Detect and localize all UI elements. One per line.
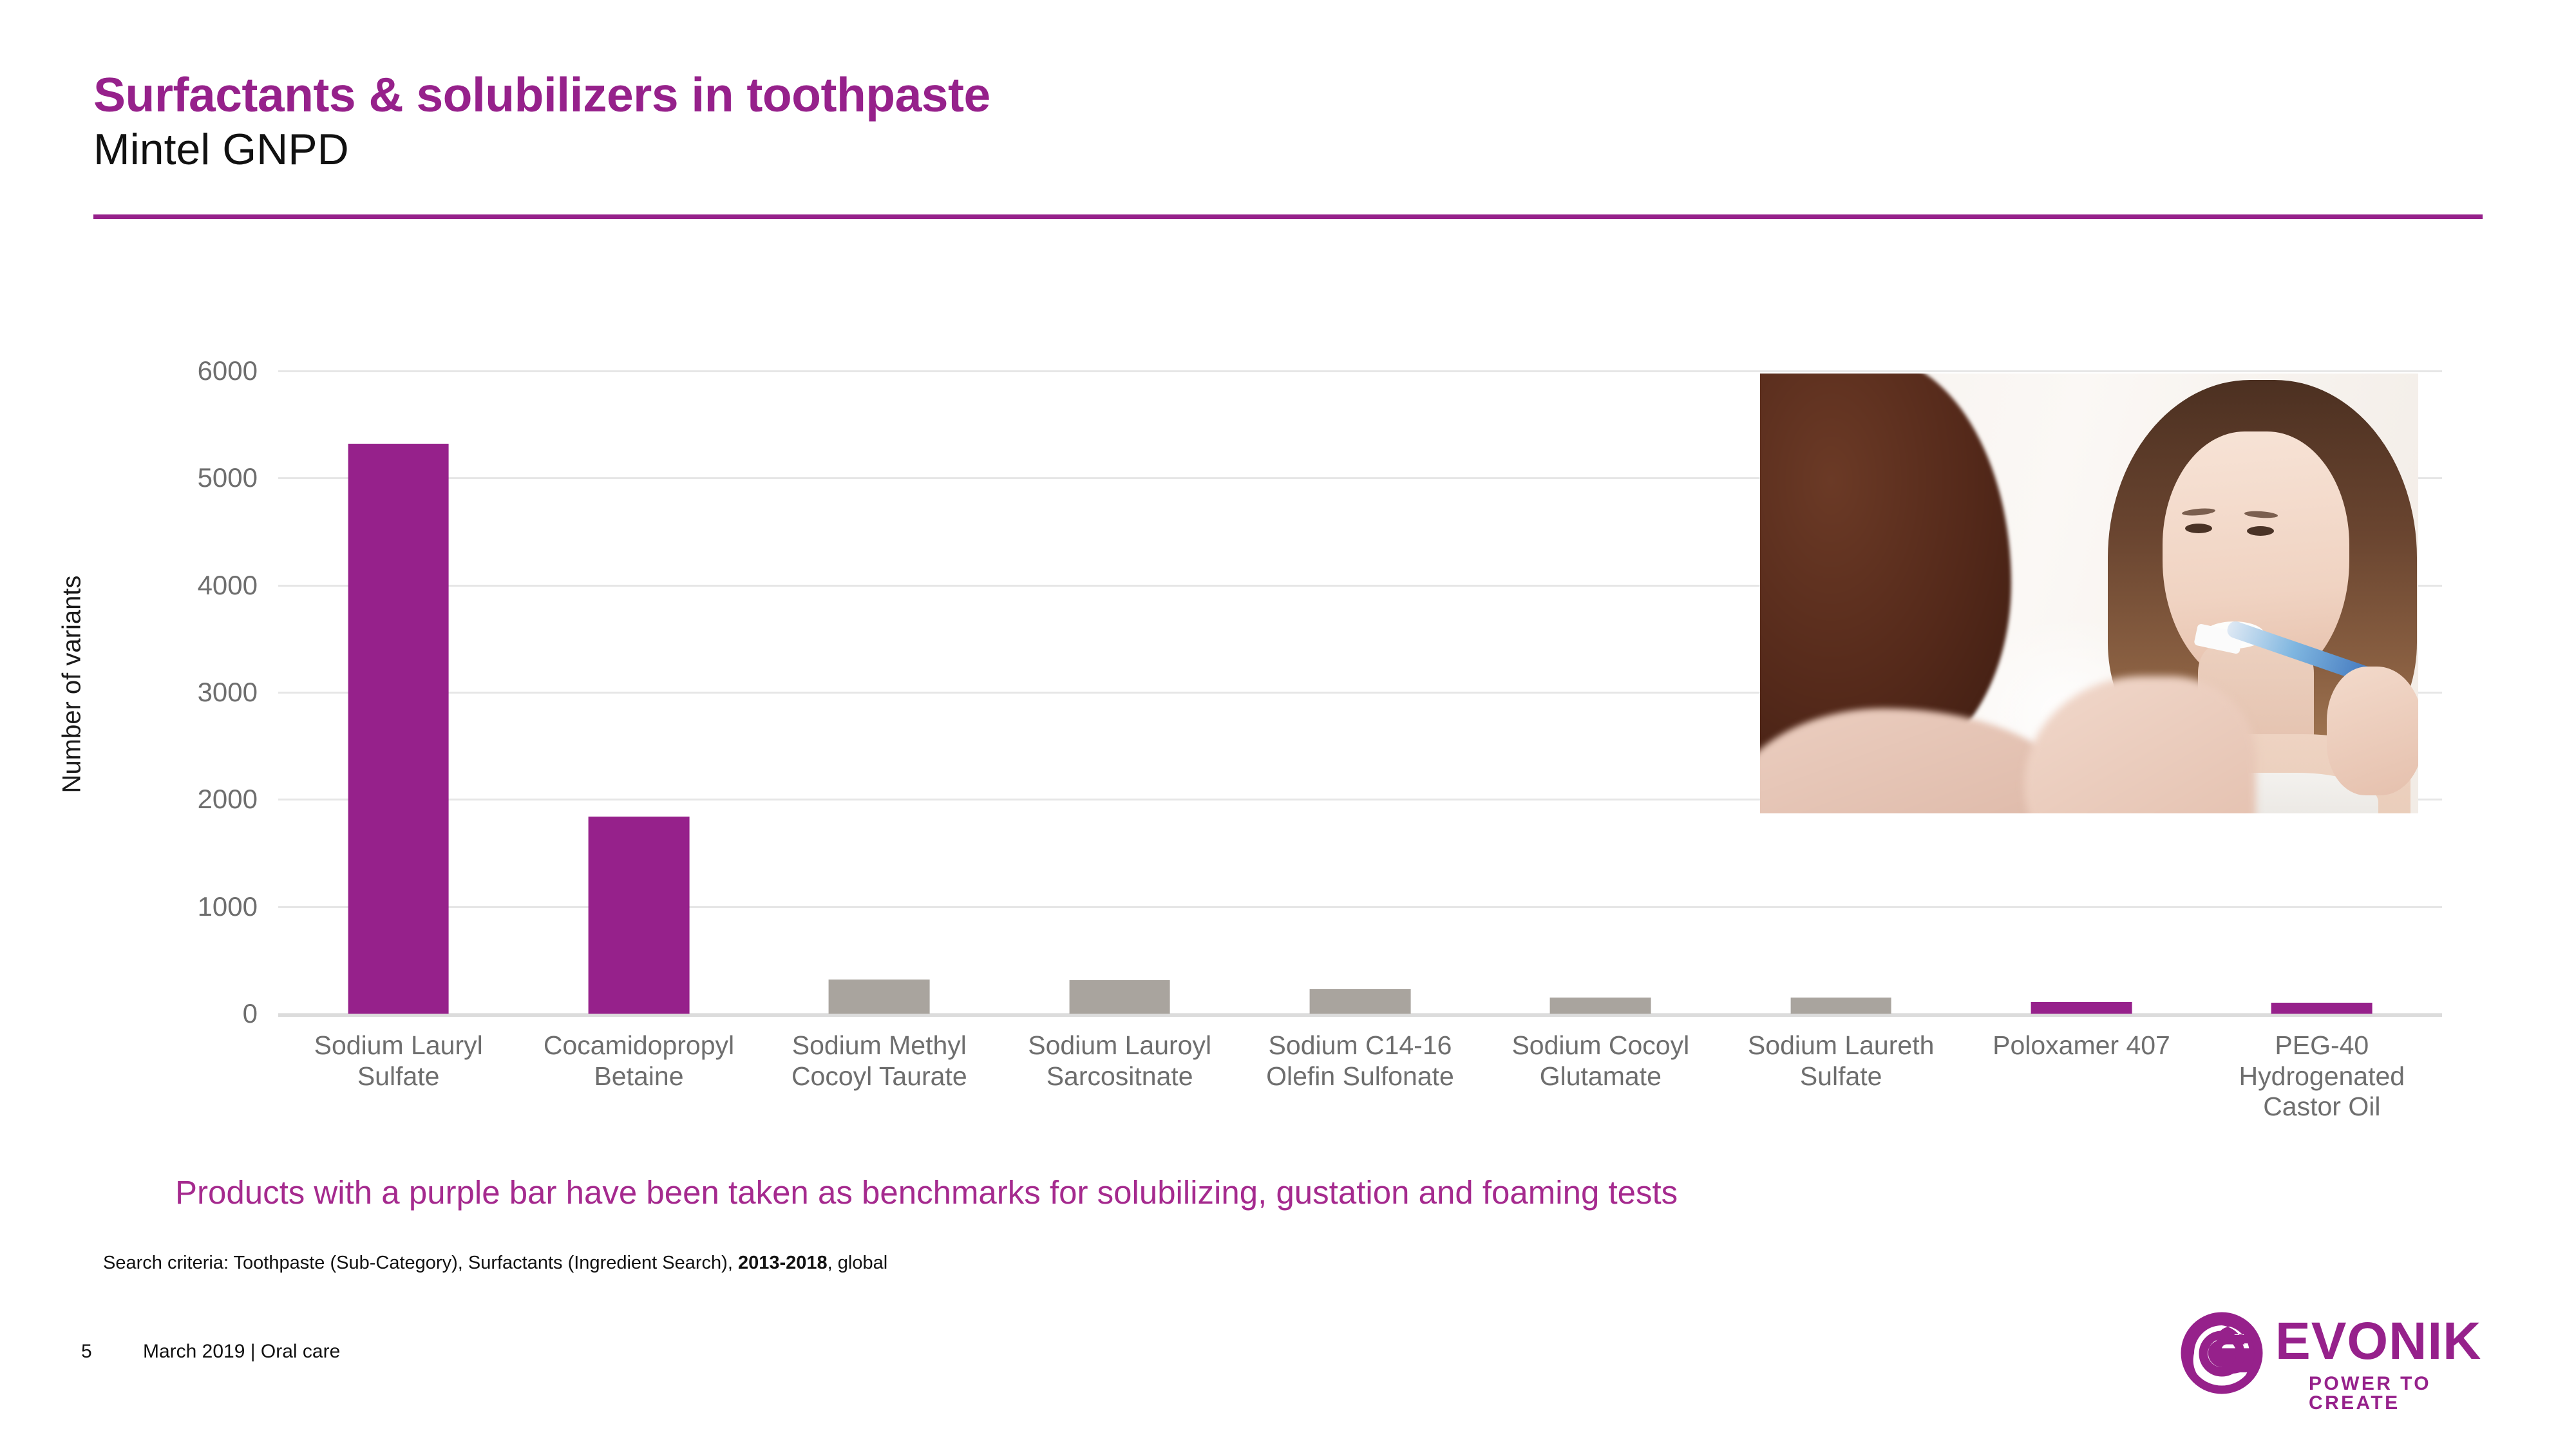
bar[interactable]	[829, 980, 930, 1014]
x-axis-tick-label: Sodium MethylCocoyl Taurate	[759, 1030, 999, 1092]
bar[interactable]	[2271, 1003, 2372, 1014]
x-axis-tick-label: Sodium LaurylSulfate	[278, 1030, 518, 1092]
footnote-suffix: , global	[828, 1253, 888, 1273]
y-axis-tick-label: 5000	[97, 462, 258, 493]
y-axis-tick-label: 6000	[97, 355, 258, 386]
bar[interactable]	[1550, 998, 1651, 1014]
evonik-tagline: POWER TO CREATE	[2309, 1374, 2515, 1413]
evonik-logo: EVONIK POWER TO CREATE	[2180, 1307, 2515, 1410]
bar-slot	[759, 371, 999, 1014]
evonik-wordmark: EVONIK	[2275, 1315, 2481, 1368]
x-axis-tick-label: CocamidopropylBetaine	[518, 1030, 759, 1092]
y-axis-tick-label: 0	[97, 998, 258, 1029]
x-axis-tick-label-line: Cocamidopropyl	[518, 1030, 759, 1061]
x-axis-tick-label-line: Sulfate	[278, 1061, 518, 1092]
benchmark-caption: Products with a purple bar have been tak…	[175, 1173, 2429, 1211]
photo-woman-hand	[2327, 667, 2418, 795]
search-criteria-footnote: Search criteria: Toothpaste (Sub-Categor…	[103, 1253, 2035, 1274]
x-axis-tick-label-line: Sodium Methyl	[759, 1030, 999, 1061]
y-axis-tick-label: 2000	[97, 784, 258, 815]
x-axis-tick-label-line: Sodium Cocoyl	[1481, 1030, 1721, 1061]
x-axis-tick-label: PEG-40HydrogenatedCastor Oil	[2202, 1030, 2442, 1122]
y-axis-title: Number of variants	[58, 517, 87, 852]
photo-woman-eye-left	[2185, 524, 2212, 533]
y-axis-tick-label: 3000	[97, 677, 258, 708]
x-axis-tick-label: Sodium LaurethSulfate	[1721, 1030, 1961, 1092]
bar[interactable]	[1790, 998, 1891, 1014]
x-axis-tick-label-line: PEG-40	[2202, 1030, 2442, 1061]
y-axis-tick-label: 1000	[97, 891, 258, 922]
x-axis-tick-label-line: Betaine	[518, 1061, 759, 1092]
bar-slot	[518, 371, 759, 1014]
x-axis-tick-label-line: Cocoyl Taurate	[759, 1061, 999, 1092]
bar-slot	[278, 371, 518, 1014]
x-axis-tick-label-line: Poloxamer 407	[1961, 1030, 2201, 1061]
x-axis-tick-label-line: Sodium Lauroyl	[999, 1030, 1240, 1061]
bar-slot	[1481, 371, 1721, 1014]
footnote-date-range: 2013-2018	[738, 1253, 828, 1273]
x-axis-tick-label-line: Castor Oil	[2202, 1092, 2442, 1122]
x-axis-tick-label-line: Olefin Sulfonate	[1240, 1061, 1480, 1092]
evonik-logo-mark-icon	[2180, 1311, 2264, 1395]
bar[interactable]	[589, 817, 690, 1014]
photo-woman-eye-right	[2247, 526, 2274, 536]
x-axis-tick-label-line: Glutamate	[1481, 1061, 1721, 1092]
page-number: 5	[81, 1341, 92, 1363]
bar[interactable]	[1069, 980, 1170, 1014]
x-axis-tick-label-line: Sodium Lauryl	[278, 1030, 518, 1061]
x-axis-tick-label-line: Sodium C14-16	[1240, 1030, 1480, 1061]
x-axis-tick-label: Sodium CocoylGlutamate	[1481, 1030, 1721, 1092]
bar-slot	[1240, 371, 1480, 1014]
bar[interactable]	[1310, 989, 1411, 1014]
x-axis-tick-label-line: Hydrogenated	[2202, 1061, 2442, 1092]
x-axis-tick-label-line: Sodium Laureth	[1721, 1030, 1961, 1061]
x-axis-tick-label: Sodium C14-16Olefin Sulfonate	[1240, 1030, 1480, 1092]
x-axis-tick-label: Poloxamer 407	[1961, 1030, 2201, 1061]
bar-slot	[999, 371, 1240, 1014]
bar[interactable]	[348, 444, 449, 1014]
footer-text: March 2019 | Oral care	[143, 1341, 340, 1363]
footnote-prefix: Search criteria: Toothpaste (Sub-Categor…	[103, 1253, 738, 1273]
y-axis-tick-label: 4000	[97, 570, 258, 601]
x-axis-tick-label: Sodium LauroylSarcositnate	[999, 1030, 1240, 1092]
x-axis-tick-label-line: Sulfate	[1721, 1061, 1961, 1092]
toothbrushing-photo	[1760, 374, 2418, 813]
bar[interactable]	[2031, 1002, 2132, 1014]
x-axis-tick-label-line: Sarcositnate	[999, 1061, 1240, 1092]
x-axis-line	[278, 1014, 2442, 1017]
